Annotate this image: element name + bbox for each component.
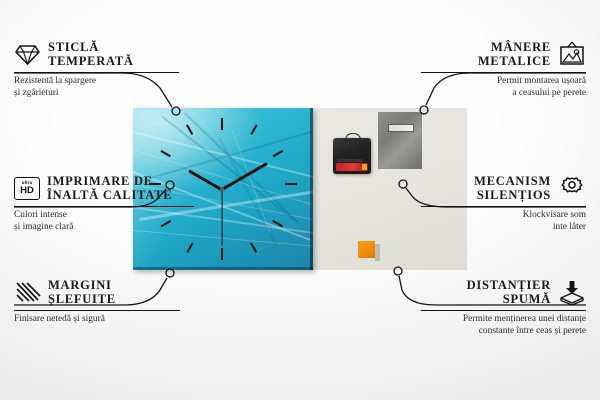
diamond-icon	[14, 43, 41, 66]
feature-divider	[14, 72, 179, 73]
feature-foam-spacer: DISTANȚIER SPUMĂ Permite menținerea unei…	[421, 278, 586, 338]
ultra-hd-icon: ultra HD	[14, 177, 40, 200]
feature-header: ultra HD IMPRIMARE DE ÎNALTĂ CALITATE	[14, 174, 194, 203]
feature-subtext-line1: Rezistentă la spargere	[14, 76, 179, 88]
feature-title: STICLĂ TEMPERATĂ	[48, 40, 134, 69]
feature-title: MÂNERE METALICE	[478, 40, 551, 69]
feature-subtext-line2: inte låter	[421, 222, 586, 234]
gear-icon	[558, 175, 586, 201]
feature-subtext-line1: Culori intense	[14, 210, 194, 222]
feature-header: DISTANȚIER SPUMĂ	[421, 278, 586, 307]
feature-subtext-line2: a ceasului pe perete	[421, 88, 586, 100]
feature-subtext-line2: constante între ceas și perete	[421, 326, 586, 338]
feature-tempered-glass: STICLĂ TEMPERATĂ Rezistentă la spargere …	[14, 40, 179, 100]
feature-divider	[14, 206, 194, 207]
feature-header: MECANISM SILENȚIOS	[421, 174, 586, 203]
ultra-hd-main-label: HD	[20, 186, 34, 196]
infographic-canvas: STICLĂ TEMPERATĂ Rezistentă la spargere …	[0, 0, 600, 400]
press-down-foam-icon	[558, 279, 586, 305]
feature-subtext-line2: și imagine clară	[14, 222, 194, 234]
feature-subtext-line1: Finisare netedă și sigură	[14, 314, 180, 326]
feature-subtext-line2: și zgârieturi	[14, 88, 179, 100]
feature-silent-mechanism: MECANISM SILENȚIOS Klockvisare som inte …	[421, 174, 586, 234]
feature-subtext-line1: Permit montarea ușoară	[421, 76, 586, 88]
feature-title: IMPRIMARE DE ÎNALTĂ CALITATE	[47, 174, 172, 203]
feature-header: STICLĂ TEMPERATĂ	[14, 40, 179, 69]
feature-subtext-line1: Permite menținerea unei distanțe	[421, 314, 586, 326]
feature-polished-edges: MARGINI ȘLEFUITE Finisare netedă și sigu…	[14, 278, 180, 326]
feature-divider	[421, 310, 586, 311]
framed-picture-hanger-icon	[558, 41, 586, 67]
feature-subtext-line1: Klockvisare som	[421, 210, 586, 222]
feature-title: DISTANȚIER SPUMĂ	[467, 278, 551, 307]
feature-title: MARGINI ȘLEFUITE	[48, 278, 116, 307]
feature-divider	[421, 206, 586, 207]
feature-title: MECANISM SILENȚIOS	[474, 174, 551, 203]
feature-header: MARGINI ȘLEFUITE	[14, 278, 180, 307]
feature-divider	[421, 72, 586, 73]
feature-divider	[14, 310, 180, 311]
feature-header: MÂNERE METALICE	[421, 40, 586, 69]
feature-high-quality-print: ultra HD IMPRIMARE DE ÎNALTĂ CALITATE Cu…	[14, 174, 194, 234]
feature-metal-handles: MÂNERE METALICE Permit montarea ușoară a…	[421, 40, 586, 100]
diagonal-lines-icon	[14, 281, 41, 304]
